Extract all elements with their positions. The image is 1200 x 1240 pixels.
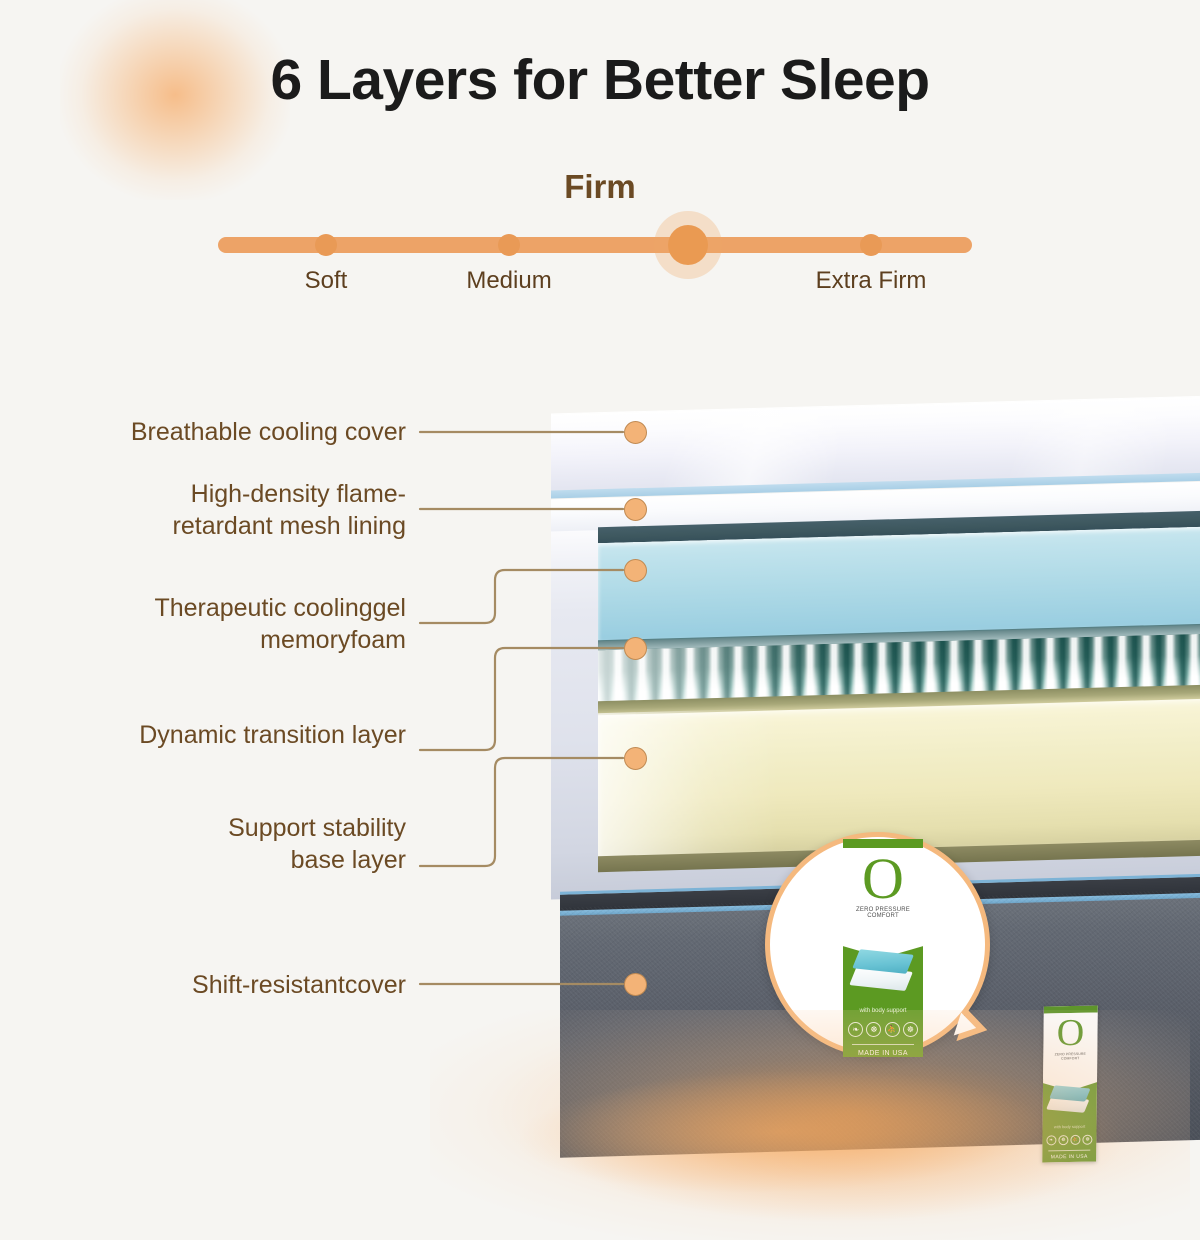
tag-foam-illustration [1049, 1086, 1090, 1115]
tag-foam-gel [1049, 1085, 1090, 1101]
tag-green-panel: with body support ❧ ☸ ⛹ ☸ MADE IN USA [1042, 1078, 1097, 1162]
callout-label-shift-resistant-cover: Shift-resistantcover [54, 969, 406, 1001]
tag-divider-rule-large [852, 1044, 914, 1045]
callout-dot-flame-retardant-mesh-lining[interactable] [624, 498, 647, 521]
mattress-layer-cooling-gel-memory-foam [598, 526, 1200, 642]
callout-label-dynamic-transition-layer: Dynamic transition layer [54, 719, 406, 751]
tag-green-panel-large: with body support ❧ ☸ ⛹ ☸ MADE IN USA [843, 940, 923, 1057]
tag-logo-letter: O [1057, 1016, 1085, 1051]
callout-dot-shift-resistant-cover[interactable] [624, 973, 647, 996]
cover-sheen [551, 396, 1200, 492]
leaf-icon: ❧ [1046, 1135, 1056, 1145]
tag-origin-label-large: MADE IN USA [858, 1050, 908, 1057]
tag-tagline: ZERO PRESSURE COMFORT [1047, 1052, 1093, 1061]
tag-icon-row: ❧ ☸ ⛹ ☸ [1042, 1134, 1096, 1145]
product-tag-artwork-small: O ZERO PRESSURE COMFORT with body suppor… [1042, 1006, 1098, 1163]
callout-label-therapeutic-coolinggel-memoryfoam: Therapeutic coolinggel memoryfoam [54, 592, 406, 656]
base-layer-highlight [598, 708, 778, 858]
callout-label-support-stability-base-layer: Support stability base layer [54, 812, 406, 876]
body-support-icon-large: ⛹ [885, 1022, 900, 1037]
tag-icon-row-large: ❧ ☸ ⛹ ☸ [843, 1022, 923, 1037]
tag-subtitle-large: with body support [859, 1008, 906, 1014]
callout-dot-support-stability-base-layer[interactable] [624, 747, 647, 770]
body-support-icon: ⛹ [1070, 1134, 1080, 1144]
leaf-icon-large: ❧ [848, 1022, 863, 1037]
tag-origin-label: MADE IN USA [1051, 1153, 1088, 1160]
callout-label-breathable-cooling-cover: Breathable cooling cover [54, 416, 406, 448]
product-tag-artwork-large: O ZERO PRESSURE COMFORT with body suppor… [843, 839, 923, 1057]
tag-logo-panel: O ZERO PRESSURE COMFORT [1043, 1013, 1098, 1079]
tag-foam-illustration-large [853, 952, 914, 994]
tag-tagline-large: ZERO PRESSURE COMFORT [843, 907, 923, 919]
callout-dot-breathable-cooling-cover[interactable] [624, 421, 647, 444]
durability-icon: ☸ [1083, 1134, 1093, 1144]
infographic-stage: 6 Layers for Better Sleep Firm Soft Medi… [0, 0, 1200, 1200]
magnifier-callout-bubble: O ZERO PRESSURE COMFORT with body suppor… [765, 832, 990, 1057]
callout-dot-dynamic-transition-layer[interactable] [624, 637, 647, 660]
tag-logo-letter-large: O [862, 853, 904, 905]
tag-logo-panel-large: O ZERO PRESSURE COMFORT [843, 848, 923, 940]
callout-dot-therapeutic-coolinggel-memoryfoam[interactable] [624, 559, 647, 582]
product-tag-small: O ZERO PRESSURE COMFORT with body suppor… [1042, 1006, 1098, 1163]
tag-subtitle: with body support [1054, 1123, 1085, 1129]
product-tag-magnified: O ZERO PRESSURE COMFORT with body suppor… [843, 839, 923, 1057]
mattress-layer-breathable-cooling-cover [551, 395, 1200, 492]
durability-icon-large: ☸ [903, 1022, 918, 1037]
shift-cover-glow [520, 1064, 1040, 1199]
breathable-icon-large: ☸ [866, 1022, 881, 1037]
breathable-icon: ☸ [1058, 1135, 1068, 1145]
tag-divider-rule [1048, 1149, 1090, 1151]
callout-label-flame-retardant-mesh-lining: High-density flame- retardant mesh linin… [54, 478, 406, 542]
